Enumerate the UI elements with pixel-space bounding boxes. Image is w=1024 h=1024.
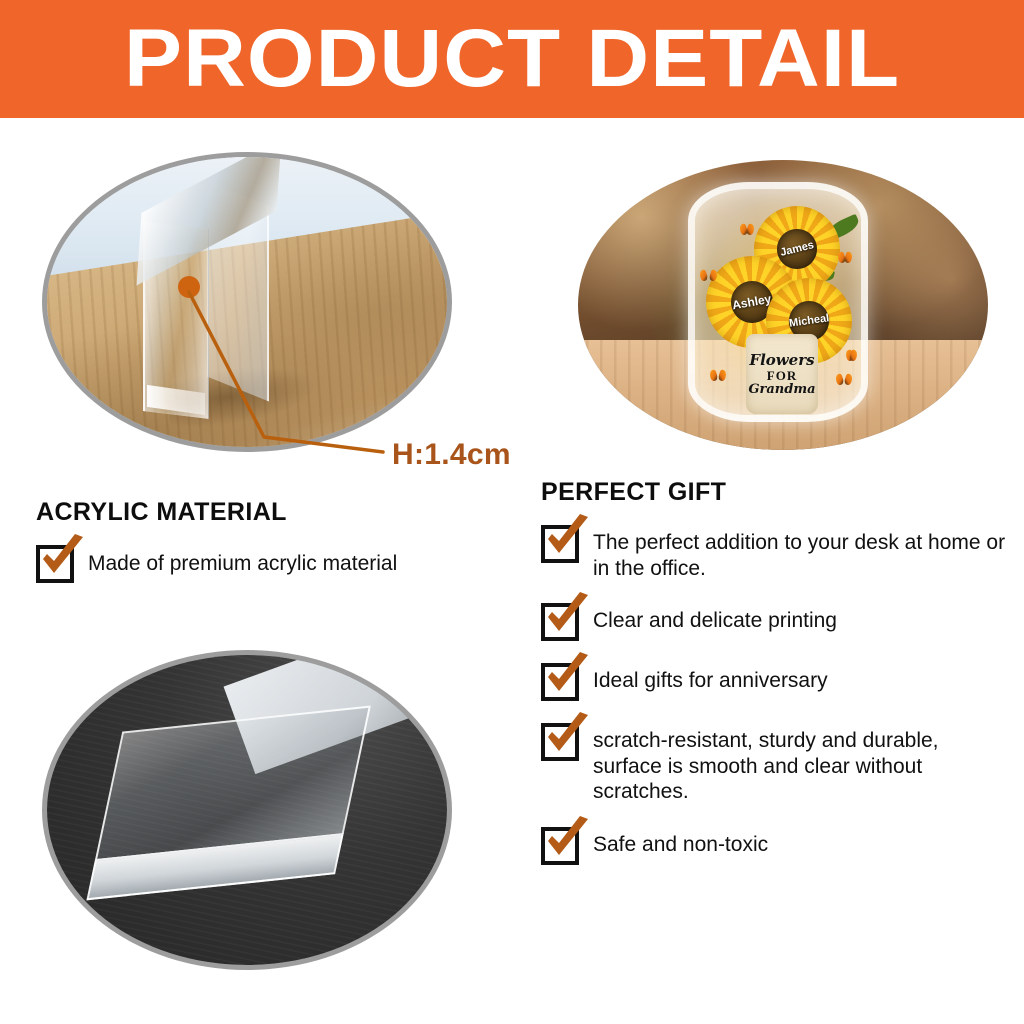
checkbox-checked[interactable] bbox=[541, 603, 579, 641]
butterfly-icon bbox=[846, 350, 857, 359]
feature-text: Clear and delicate printing bbox=[593, 603, 837, 634]
mason-jar-label: Flowers FOR Grandma bbox=[746, 334, 818, 414]
sunflower-name-label: Micheal bbox=[788, 312, 830, 330]
feature-item: Made of premium acrylic material bbox=[36, 545, 526, 583]
thickness-label: H:1.4cm bbox=[392, 438, 511, 472]
checkbox-checked[interactable] bbox=[541, 525, 579, 563]
checkbox-checked[interactable] bbox=[36, 545, 74, 583]
acrylic-edge-on-wood-photo bbox=[42, 152, 452, 452]
section-title-perfect-gift: PERFECT GIFT bbox=[541, 478, 726, 507]
feature-list-acrylic-material: Made of premium acrylic material bbox=[36, 545, 526, 593]
acrylic-square-block bbox=[85, 706, 371, 907]
check-icon bbox=[542, 593, 594, 641]
acrylic-block-on-slate-photo bbox=[42, 650, 452, 970]
checkbox-checked[interactable] bbox=[541, 827, 579, 865]
butterfly-icon bbox=[836, 374, 852, 386]
check-icon bbox=[542, 817, 594, 865]
thickness-callout-dot bbox=[178, 276, 200, 298]
jar-text-grandma: Grandma bbox=[748, 383, 815, 396]
jar-text-for: FOR bbox=[767, 369, 797, 382]
feature-item: Safe and non-toxic bbox=[541, 827, 1011, 865]
butterfly-icon bbox=[838, 252, 852, 263]
feature-text: Made of premium acrylic material bbox=[88, 545, 397, 577]
butterfly-icon bbox=[700, 270, 717, 283]
feature-item: scratch-resistant, sturdy and durable, s… bbox=[541, 723, 1011, 805]
page-title: PRODUCT DETAIL bbox=[124, 18, 900, 100]
sunflower-center: James bbox=[777, 229, 817, 269]
sunflower-name-label: James bbox=[779, 239, 815, 259]
sunflower-plaque-product-photo: James Ashley Micheal Flowers FOR Grandma bbox=[578, 160, 988, 450]
butterfly-icon bbox=[710, 370, 726, 382]
feature-text: Safe and non-toxic bbox=[593, 827, 768, 858]
acrylic-plaque: James Ashley Micheal Flowers FOR Grandma bbox=[688, 182, 868, 422]
check-icon bbox=[542, 653, 594, 701]
feature-item: Clear and delicate printing bbox=[541, 603, 1011, 641]
check-icon bbox=[542, 713, 594, 761]
check-icon bbox=[542, 515, 594, 563]
check-icon bbox=[37, 535, 89, 583]
feature-item: The perfect addition to your desk at hom… bbox=[541, 525, 1011, 581]
checkbox-checked[interactable] bbox=[541, 723, 579, 761]
feature-list-perfect-gift: The perfect addition to your desk at hom… bbox=[541, 525, 1011, 887]
feature-item: Ideal gifts for anniversary bbox=[541, 663, 1011, 701]
feature-text: The perfect addition to your desk at hom… bbox=[593, 525, 1011, 581]
feature-text: scratch-resistant, sturdy and durable, s… bbox=[593, 723, 1011, 805]
section-title-acrylic-material: ACRYLIC MATERIAL bbox=[36, 498, 287, 527]
page-header: PRODUCT DETAIL bbox=[0, 0, 1024, 118]
jar-text-flowers: Flowers bbox=[749, 353, 814, 368]
checkbox-checked[interactable] bbox=[541, 663, 579, 701]
feature-text: Ideal gifts for anniversary bbox=[593, 663, 828, 694]
butterfly-icon bbox=[740, 224, 754, 235]
